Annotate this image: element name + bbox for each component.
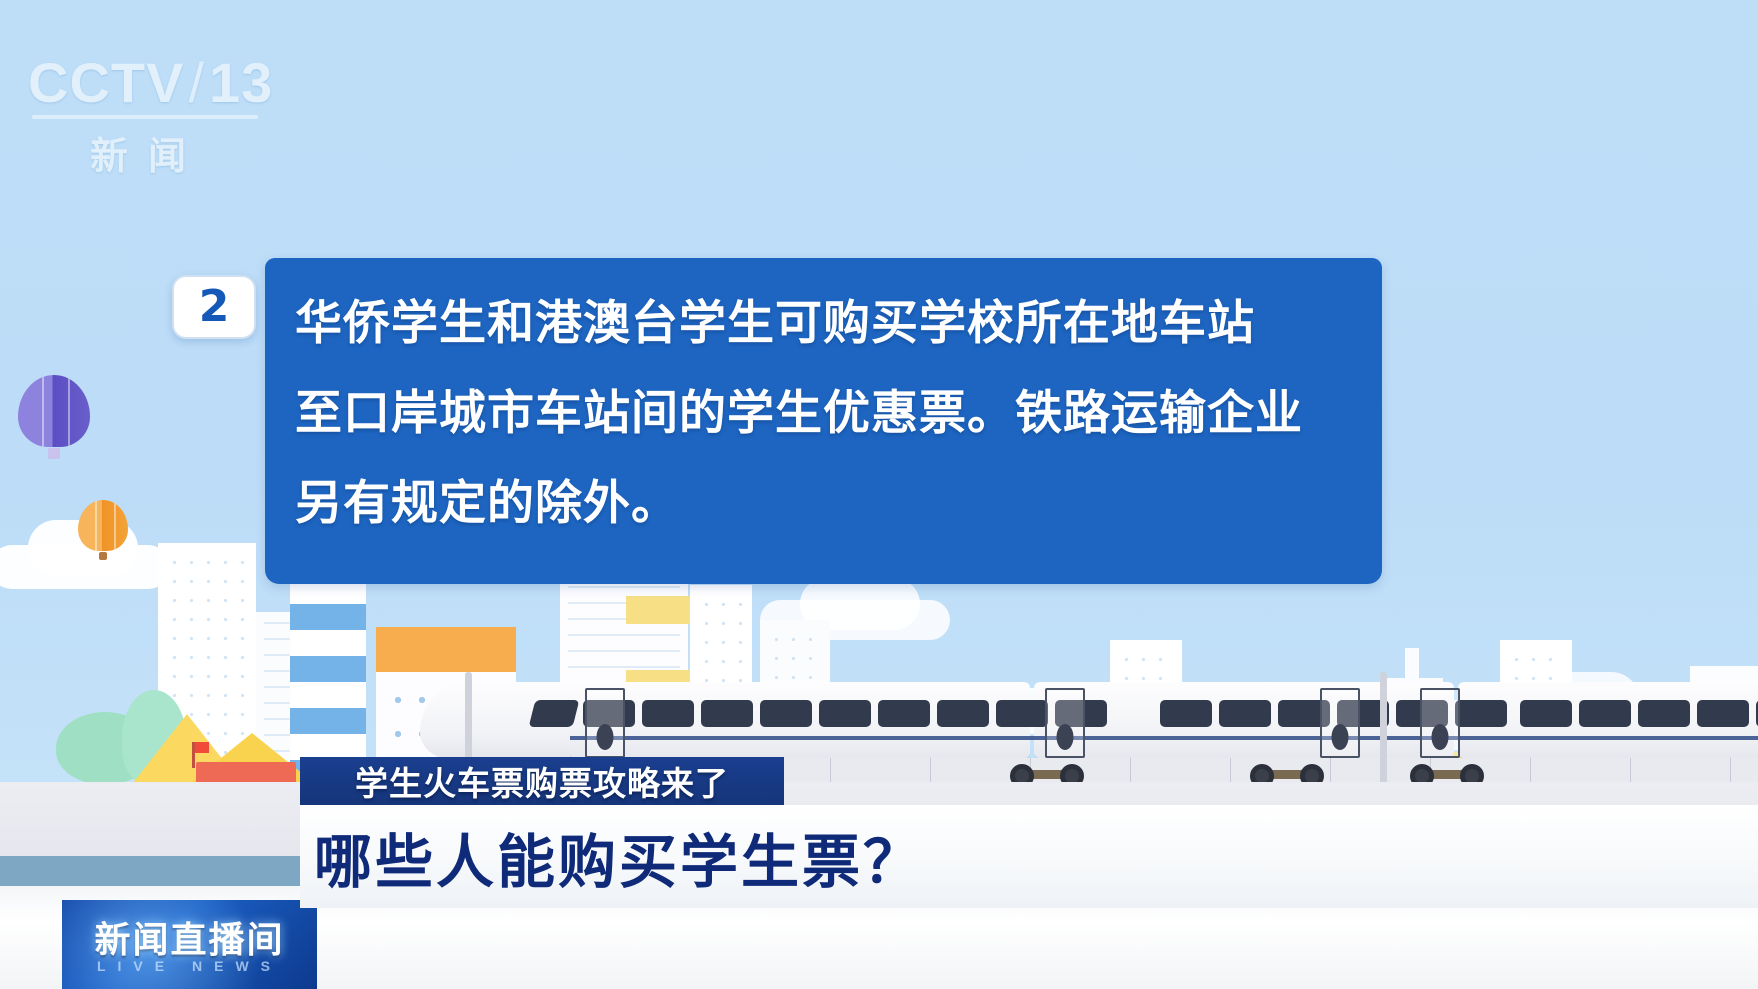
train-window [1697,700,1749,727]
info-card-text: 华侨学生和港澳台学生可购买学校所在地车站 至口岸城市车站间的学生优惠票。铁路运输… [295,280,1356,550]
skirt-seam [830,758,831,784]
train-door-4 [1420,688,1460,758]
program-logo-cn: 新闻直播间 [62,911,317,963]
train-window [1455,700,1507,727]
train-door-handle [1057,724,1074,750]
skirt-seam [1230,758,1231,784]
catenary-pole [1380,672,1387,784]
skirt-seam [1330,758,1331,784]
train-window [1638,700,1690,727]
train-window [642,700,694,727]
skirt-seam [1730,758,1731,784]
program-logo: 新闻直播间 LIVE NEWS [62,900,317,989]
train-window [1520,700,1572,727]
train-window [878,700,930,727]
skirt-seam [1630,758,1631,784]
train-window [819,700,871,727]
train-side-stripe [570,736,1758,740]
flag-icon [195,742,209,753]
train-door-handle [1332,724,1349,750]
train-window-row-3 [1520,700,1758,727]
program-logo-en: LIVE NEWS [62,958,317,974]
train-window [529,700,580,727]
band-blue [290,656,366,682]
train-door-3 [1320,688,1360,758]
train-door-handle [1432,724,1449,750]
train-door-1 [585,688,625,758]
train-door-2 [1045,688,1085,758]
headline-bar: 哪些人能购买学生票？ [300,805,1758,908]
item-number-badge: 2 [172,275,256,339]
train-window [996,700,1048,727]
broadcast-frame: CCTV / 13 新闻 2 华侨学生和港澳台学生可购买学校所在地车站 至口岸城… [0,0,1758,989]
train-window [760,700,812,727]
headline-text: 哪些人能购买学生票？ [300,815,924,899]
skirt-seam [930,758,931,784]
band-blue [290,708,366,734]
orange-balloon [78,500,128,566]
info-card: 华侨学生和港澳台学生可购买学校所在地车站 至口岸城市车站间的学生优惠票。铁路运输… [265,258,1382,584]
building-red-box [196,762,296,784]
item-number-label: 2 [199,285,230,329]
train-window [1219,700,1271,727]
info-card-line-3: 另有规定的除外。 [295,460,1356,548]
skirt-seam [1530,758,1531,784]
kicker-bar: 学生火车票购票攻略来了 [300,757,784,805]
train-window [1160,700,1212,727]
info-card-line-2: 至口岸城市车站间的学生优惠票。铁路运输企业 [295,370,1356,458]
kicker-text: 学生火车票购票攻略来了 [355,757,729,805]
train-window [937,700,989,727]
train-window [701,700,753,727]
train-door-handle [597,724,614,750]
band-blue [290,604,366,630]
train-window [1579,700,1631,727]
purple-balloon [18,375,90,467]
skirt-seam [1130,758,1131,784]
info-card-line-1: 华侨学生和港澳台学生可购买学校所在地车站 [295,280,1356,368]
